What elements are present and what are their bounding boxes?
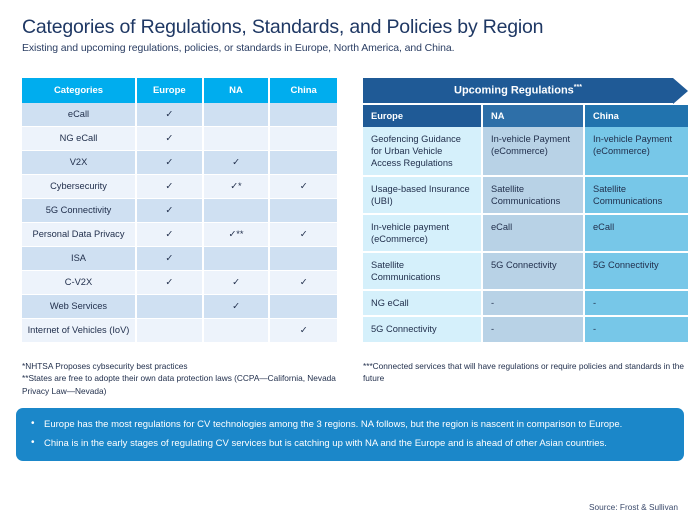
table-row: ISA ✓ xyxy=(22,247,337,271)
cell-europe: ✓ xyxy=(137,103,204,127)
categories-table-body: eCall ✓ NG eCall ✓ V2X ✓ ✓ xyxy=(22,103,337,343)
cell-category: NG eCall xyxy=(22,127,137,151)
cell-na: ✓* xyxy=(204,175,271,199)
cell-category: Internet of Vehicles (IoV) xyxy=(22,319,137,343)
cell-na: 5G Connectivity xyxy=(483,253,585,291)
cell-na: ✓ xyxy=(204,295,271,319)
table-row: Usage-based Insurance (UBI) Satellite Co… xyxy=(363,177,688,215)
callout-bullet-list: Europe has the most regulations for CV t… xyxy=(26,418,670,451)
upcoming-regulations-banner: Upcoming Regulations*** xyxy=(363,78,673,103)
cell-europe: ✓ xyxy=(137,151,204,175)
cell-na: - xyxy=(483,291,585,317)
cell-na xyxy=(204,103,271,127)
cell-na xyxy=(204,199,271,223)
categories-table-head: Categories Europe NA China xyxy=(22,78,337,103)
cell-china xyxy=(270,199,337,223)
table-row: eCall ✓ xyxy=(22,103,337,127)
cell-category: V2X xyxy=(22,151,137,175)
footnote-nhtsa: *NHTSA Proposes cybsecurity best practic… xyxy=(22,360,337,372)
table-row: Internet of Vehicles (IoV) ✓ xyxy=(22,319,337,343)
cell-category: Web Services xyxy=(22,295,137,319)
cell-europe: ✓ xyxy=(137,175,204,199)
upcoming-regulations-table: Europe NA China Geofencing Guidance for … xyxy=(363,105,688,344)
cell-na: - xyxy=(483,317,585,343)
cell-china: In-vehicle Payment (eCommerce) xyxy=(585,127,688,177)
cell-china xyxy=(270,295,337,319)
cell-china: 5G Connectivity xyxy=(585,253,688,291)
cell-china: ✓ xyxy=(270,271,337,295)
upcoming-regulations-banner-label: Upcoming Regulations xyxy=(454,85,574,97)
page-title: Categories of Regulations, Standards, an… xyxy=(22,16,700,38)
cell-europe xyxy=(137,319,204,343)
footnote-connected-services: ***Connected services that will have reg… xyxy=(363,360,688,385)
cell-china: Satellite Communications xyxy=(585,177,688,215)
cell-china xyxy=(270,151,337,175)
cell-china: - xyxy=(585,291,688,317)
table-row: In-vehicle payment (eCommerce) eCall eCa… xyxy=(363,215,688,253)
table-row: Web Services ✓ xyxy=(22,295,337,319)
table-row: Personal Data Privacy ✓ ✓** ✓ xyxy=(22,223,337,247)
cell-na xyxy=(204,127,271,151)
cell-europe: Satellite Communications xyxy=(363,253,483,291)
col-header-na[interactable]: NA xyxy=(483,105,585,127)
table-row: Geofencing Guidance for Urban Vehicle Ac… xyxy=(363,127,688,177)
upcoming-table-body: Geofencing Guidance for Urban Vehicle Ac… xyxy=(363,127,688,344)
col-header-china[interactable]: China xyxy=(585,105,688,127)
cell-category: ISA xyxy=(22,247,137,271)
cell-europe: ✓ xyxy=(137,247,204,271)
page-subtitle: Existing and upcoming regulations, polic… xyxy=(22,42,700,54)
cell-china: - xyxy=(585,317,688,343)
callout-bullet-china: China is in the early stages of regulati… xyxy=(26,437,670,450)
cell-china: ✓ xyxy=(270,223,337,247)
table-header-row: Categories Europe NA China xyxy=(22,78,337,103)
table-row: NG eCall ✓ xyxy=(22,127,337,151)
cell-europe xyxy=(137,295,204,319)
table-row: C-V2X ✓ ✓ ✓ xyxy=(22,271,337,295)
key-takeaways-callout: Europe has the most regulations for CV t… xyxy=(16,408,684,461)
cell-na: Satellite Communications xyxy=(483,177,585,215)
col-header-europe[interactable]: Europe xyxy=(363,105,483,127)
cell-china: ✓ xyxy=(270,175,337,199)
col-header-categories[interactable]: Categories xyxy=(22,78,137,103)
cell-china: eCall xyxy=(585,215,688,253)
content-area: Categories Europe NA China eCall ✓ NG eC… xyxy=(0,78,700,344)
cell-category: 5G Connectivity xyxy=(22,199,137,223)
table-header-row: Europe NA China xyxy=(363,105,688,127)
table-row: Satellite Communications 5G Connectivity… xyxy=(363,253,688,291)
source-attribution: Source: Frost & Sullivan xyxy=(589,502,678,512)
cell-europe: ✓ xyxy=(137,223,204,247)
cell-china xyxy=(270,103,337,127)
page-header: Categories of Regulations, Standards, an… xyxy=(0,0,700,54)
footnotes-area: *NHTSA Proposes cybsecurity best practic… xyxy=(0,360,700,397)
cell-europe: Geofencing Guidance for Urban Vehicle Ac… xyxy=(363,127,483,177)
cell-na: eCall xyxy=(483,215,585,253)
cell-na xyxy=(204,319,271,343)
cell-na xyxy=(204,247,271,271)
cell-europe: NG eCall xyxy=(363,291,483,317)
col-header-china[interactable]: China xyxy=(270,78,337,103)
cell-europe: ✓ xyxy=(137,271,204,295)
cell-europe: ✓ xyxy=(137,127,204,151)
col-header-na[interactable]: NA xyxy=(204,78,271,103)
table-row: 5G Connectivity ✓ xyxy=(22,199,337,223)
cell-category: C-V2X xyxy=(22,271,137,295)
table-row: 5G Connectivity - - xyxy=(363,317,688,343)
upcoming-regulations-banner-marker: *** xyxy=(574,84,582,91)
cell-na: ✓ xyxy=(204,151,271,175)
categories-table-panel: Categories Europe NA China eCall ✓ NG eC… xyxy=(22,78,337,344)
cell-na: ✓ xyxy=(204,271,271,295)
table-row: NG eCall - - xyxy=(363,291,688,317)
cell-na: ✓** xyxy=(204,223,271,247)
table-row: V2X ✓ ✓ xyxy=(22,151,337,175)
upcoming-table-head: Europe NA China xyxy=(363,105,688,127)
footnotes-right: ***Connected services that will have reg… xyxy=(363,360,688,397)
categories-table: Categories Europe NA China eCall ✓ NG eC… xyxy=(22,78,337,343)
cell-category: Cybersecurity xyxy=(22,175,137,199)
cell-category: Personal Data Privacy xyxy=(22,223,137,247)
cell-china: ✓ xyxy=(270,319,337,343)
cell-europe: ✓ xyxy=(137,199,204,223)
cell-europe: Usage-based Insurance (UBI) xyxy=(363,177,483,215)
cell-china xyxy=(270,247,337,271)
table-row: Cybersecurity ✓ ✓* ✓ xyxy=(22,175,337,199)
callout-bullet-europe: Europe has the most regulations for CV t… xyxy=(26,418,670,431)
cell-europe: 5G Connectivity xyxy=(363,317,483,343)
footnotes-left: *NHTSA Proposes cybsecurity best practic… xyxy=(22,360,337,397)
cell-europe: In-vehicle payment (eCommerce) xyxy=(363,215,483,253)
cell-na: In-vehicle Payment (eCommerce) xyxy=(483,127,585,177)
cell-china xyxy=(270,127,337,151)
footnote-states-privacy: **States are free to adopte their own da… xyxy=(22,372,337,397)
col-header-europe[interactable]: Europe xyxy=(137,78,204,103)
cell-category: eCall xyxy=(22,103,137,127)
upcoming-regulations-panel: Upcoming Regulations*** Europe NA China … xyxy=(363,78,688,344)
